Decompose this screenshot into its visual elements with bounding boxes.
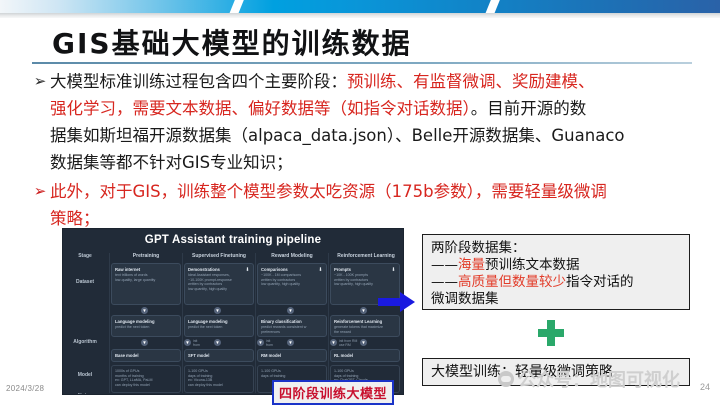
figure-cell-dataset-1: ⬇ Demonstrations Ideal Assistant respons…: [184, 263, 254, 305]
figure-cell-algorithm-3: Reinforcement Learning generate tokens t…: [330, 315, 400, 337]
top-banner: [0, 0, 720, 13]
cell-sub: predict the next token: [115, 325, 177, 330]
blue-right-arrow-icon: [378, 292, 416, 317]
cell-title: Comparisons: [261, 267, 326, 272]
cell-sub: generate tokens that maximize the reward: [334, 325, 396, 334]
figure-caption-chip: 四阶段训练大模型: [272, 380, 394, 405]
figure-row-model: Model: [65, 372, 105, 378]
two-stage-dataset-box: 两阶段数据集： ——海量预训练文本数据 ——高质量但数量较少指令对话的 微调数据…: [422, 234, 690, 310]
text-segment: 数据集等都不针对GIS专业知识；: [50, 153, 293, 172]
cell-title: Language modeling: [188, 319, 253, 324]
text-segment: 指令对话的: [566, 274, 634, 290]
flow-arrow-icon: ▼: [287, 307, 294, 314]
flow-arrow-icon: ▼: [141, 307, 148, 314]
figure-cell-dataset-0: Raw internet text trillions of words low…: [111, 263, 181, 305]
bullet-1-line-3: 据集如斯坦福开源数据集（alpaca_data.json）、Belle开源数据集…: [50, 122, 702, 149]
figure-init-note-2: init from RM use RM: [339, 339, 357, 347]
page-title: GIS基础大模型的训练数据: [52, 22, 412, 62]
flow-arrow-icon: ▼: [184, 339, 191, 346]
cell-title: Demonstrations: [188, 267, 253, 272]
flow-arrow-icon: ▼: [360, 339, 367, 346]
bullet-2-text: 此外，对于GIS，训练整个模型参数太吃资源（175b参数），需要轻量级微调 策略…: [50, 178, 702, 232]
cell-title: SFT model: [188, 353, 253, 358]
text-segment-highlight: 海量: [458, 257, 485, 273]
text-segment: 。目前开源的数: [471, 99, 587, 118]
figure-title: GPT Assistant training pipeline: [63, 234, 403, 246]
bullet-list: ➢ 大模型标准训练过程包含四个主要阶段：预训练、有监督微调、奖励建模、 强化学习…: [30, 68, 702, 234]
cell-sub: ~10K - 100K prompts written by contracto…: [334, 273, 396, 287]
figure-cell-dataset-2: ⬇ Comparisons ~100K - 1M comparisons wri…: [257, 263, 327, 305]
cell-title: Binary classification: [261, 319, 326, 324]
figure-cell-model-0: Base model: [111, 349, 181, 362]
bullet-1-line-1: 大模型标准训练过程包含四个主要阶段：预训练、有监督微调、奖励建模、: [50, 68, 702, 95]
rbox-top-line-3: ——高质量但数量较少指令对话的: [431, 274, 681, 291]
banner-slash-2: [483, 0, 503, 13]
text-segment-red: 策略；: [50, 209, 100, 228]
cell-title: Reinforcement Learning: [334, 319, 399, 324]
cell-sub: predict rewards consistent w preferences: [261, 325, 323, 334]
cell-sub: predict the next token: [188, 325, 250, 330]
bullet-arrow-icon: ➢: [30, 68, 50, 95]
gpt-pipeline-figure: GPT Assistant training pipeline Pretrain…: [62, 228, 404, 395]
text-segment: 大模型标准训练过程包含四个主要阶段：: [50, 72, 347, 91]
figure-cell-algorithm-0: Language modeling predict the next token: [111, 315, 181, 337]
figure-cell-model-1: SFT model: [184, 349, 254, 362]
figure-col-rl: Reinforcement Learning: [330, 253, 402, 259]
figure-init-note-1: init from: [266, 339, 273, 347]
bullet-2-line-1: 此外，对于GIS，训练整个模型参数太吃资源（175b参数），需要轻量级微调: [50, 178, 702, 205]
flow-arrow-icon: ▼: [141, 339, 148, 346]
rbox-top-line-4: 微调数据集: [431, 291, 681, 308]
flow-arrow-icon: ▼: [330, 339, 337, 346]
bullet-1-line-4: 数据集等都不针对GIS专业知识；: [50, 149, 702, 176]
bullet-1-text: 大模型标准训练过程包含四个主要阶段：预训练、有监督微调、奖励建模、 强化学习，需…: [50, 68, 702, 176]
cell-sub: ~100K - 1M comparisons written by contra…: [261, 273, 323, 287]
cell-title: RM model: [261, 353, 326, 358]
figure-cell-algorithm-2: Binary classification predict rewards co…: [257, 315, 327, 337]
cell-sub: 1000s of GPUs months of training ex: GPT…: [115, 369, 177, 387]
figure-cell-model-2: RM model: [257, 349, 327, 362]
cell-title: Prompts: [334, 267, 399, 272]
figure-init-note-0: init from: [193, 339, 200, 347]
figure-col-rm: Reward Modeling: [257, 253, 327, 259]
figure-row-dataset: Dataset: [65, 279, 105, 285]
text-segment: ——: [431, 274, 458, 290]
text-segment-red: 此外，对于GIS，训练整个模型参数太吃资源（175b参数），需要轻量级微调: [50, 182, 607, 201]
banner-base-strip: [0, 13, 720, 18]
figure-col-pretraining: Pretraining: [111, 253, 181, 259]
text-segment: 微调数据集: [431, 291, 499, 307]
cell-sub: 1-100 GPUs days of training: [261, 369, 323, 378]
figure-row-stage: Stage: [65, 253, 105, 259]
bullet-1-line-2: 强化学习，需要文本数据、偏好数据等（如指令对话数据）。目前开源的数: [50, 95, 702, 122]
lightweight-finetune-box: 大模型训练：轻量级微调策略: [422, 358, 690, 386]
figure-cell-algorithm-1: Language modeling predict the next token: [184, 315, 254, 337]
text-segment-red: 强化学习，需要文本数据、偏好数据等（如指令对话数据）: [50, 99, 471, 118]
download-icon: ⬇: [245, 267, 250, 273]
plus-sign-icon: [538, 320, 564, 346]
title-underline: [32, 62, 692, 64]
figure-cell-notes-0: 1000s of GPUs months of training ex: GPT…: [111, 365, 181, 393]
cell-title: Base model: [115, 353, 180, 358]
text-segment-red: 预训练、有监督微调、奖励建模、: [347, 72, 595, 91]
flow-arrow-icon: ▼: [287, 339, 294, 346]
text-segment: 大模型训练：轻量级微调策略: [431, 364, 613, 380]
text-segment-highlight: 高质量但数量较少: [458, 274, 566, 290]
cell-title: Raw internet: [115, 267, 180, 272]
flow-arrow-icon: ▼: [360, 307, 367, 314]
figure-cell-model-3: RL model: [330, 349, 400, 362]
bullet-arrow-icon: ➢: [30, 178, 50, 205]
figure-grid: Pretraining Supervised Finetuning Reward…: [63, 253, 403, 393]
bullet-item-1: ➢ 大模型标准训练过程包含四个主要阶段：预训练、有监督微调、奖励建模、 强化学习…: [30, 68, 702, 176]
cell-title: Language modeling: [115, 319, 180, 324]
figure-cell-notes-1: 1-100 GPUs days of training ex: Vicuna-1…: [184, 365, 254, 393]
cell-sub: Ideal Assistant responses, ~10-100K prom…: [188, 273, 250, 291]
download-icon: ⬇: [318, 267, 323, 273]
rbox-top-line-2: ——海量预训练文本数据: [431, 257, 681, 274]
text-segment: 据集如斯坦福开源数据集（alpaca_data.json）、Belle开源数据集…: [50, 126, 625, 145]
flow-arrow-icon: ▼: [214, 339, 221, 346]
figure-row-algorithm: Algorithm: [65, 339, 105, 345]
cell-title: RL model: [334, 353, 399, 358]
download-icon: ⬇: [391, 267, 396, 273]
cell-sub: text trillions of words low-quality, lar…: [115, 273, 177, 282]
rbox-top-line-1: 两阶段数据集：: [431, 240, 681, 257]
figure-row-notes: Notes: [65, 393, 105, 395]
banner-slash-1: [227, 0, 247, 13]
text-segment: ——: [431, 257, 458, 273]
text-segment: 预训练文本数据: [485, 257, 580, 273]
slide-date: 2024/3/28: [6, 384, 44, 393]
bullet-item-2: ➢ 此外，对于GIS，训练整个模型参数太吃资源（175b参数），需要轻量级微调 …: [30, 178, 702, 232]
flow-arrow-icon: ▼: [214, 307, 221, 314]
flow-arrow-icon: ▼: [257, 339, 264, 346]
cell-sub: 1-100 GPUs days of training ex: Vicuna-1…: [188, 369, 250, 387]
figure-col-sft: Supervised Finetuning: [184, 253, 254, 259]
text-segment: 两阶段数据集：: [431, 240, 526, 256]
rbox-bottom-line-1: 大模型训练：轻量级微调策略: [431, 363, 681, 382]
slide-page-number: 24: [700, 382, 710, 392]
